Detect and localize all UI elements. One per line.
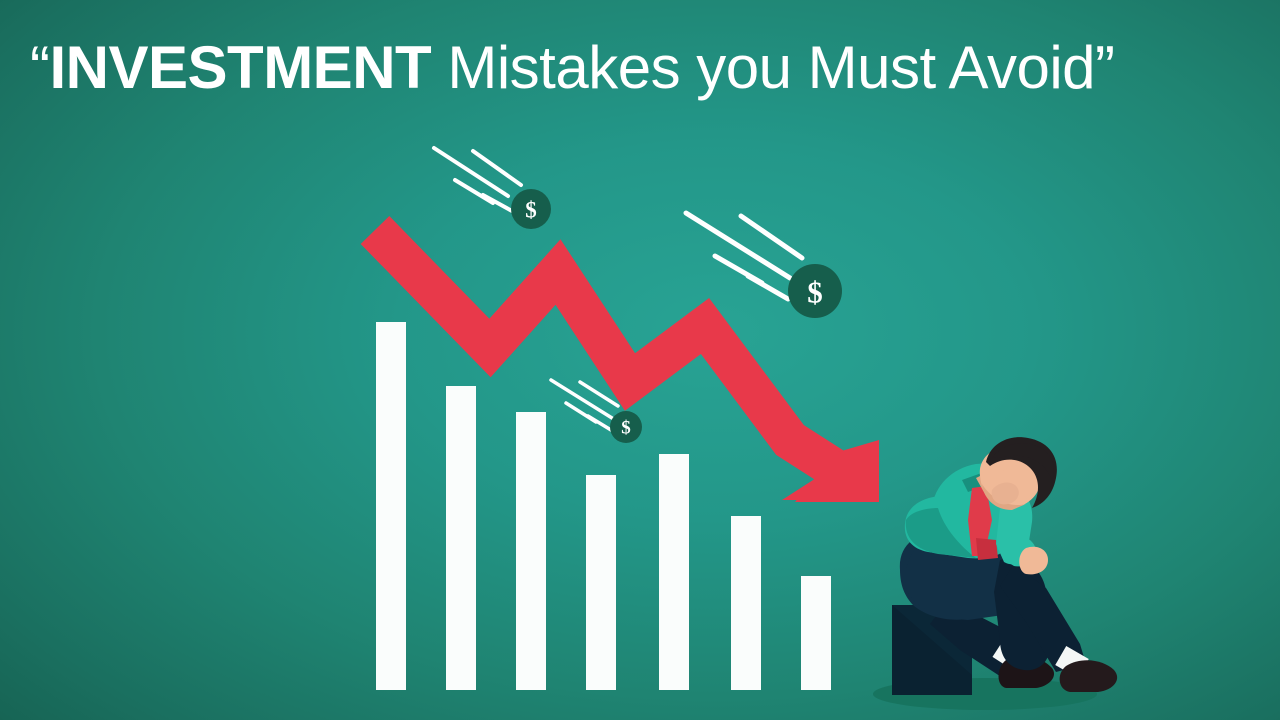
dejected-businessman (0, 0, 1280, 720)
front-foot (1055, 646, 1117, 692)
front-shoe (1060, 660, 1118, 692)
hand-on-knee (1019, 547, 1048, 575)
poster-canvas: “INVESTMENT Mistakes you Must Avoid” (0, 0, 1280, 720)
